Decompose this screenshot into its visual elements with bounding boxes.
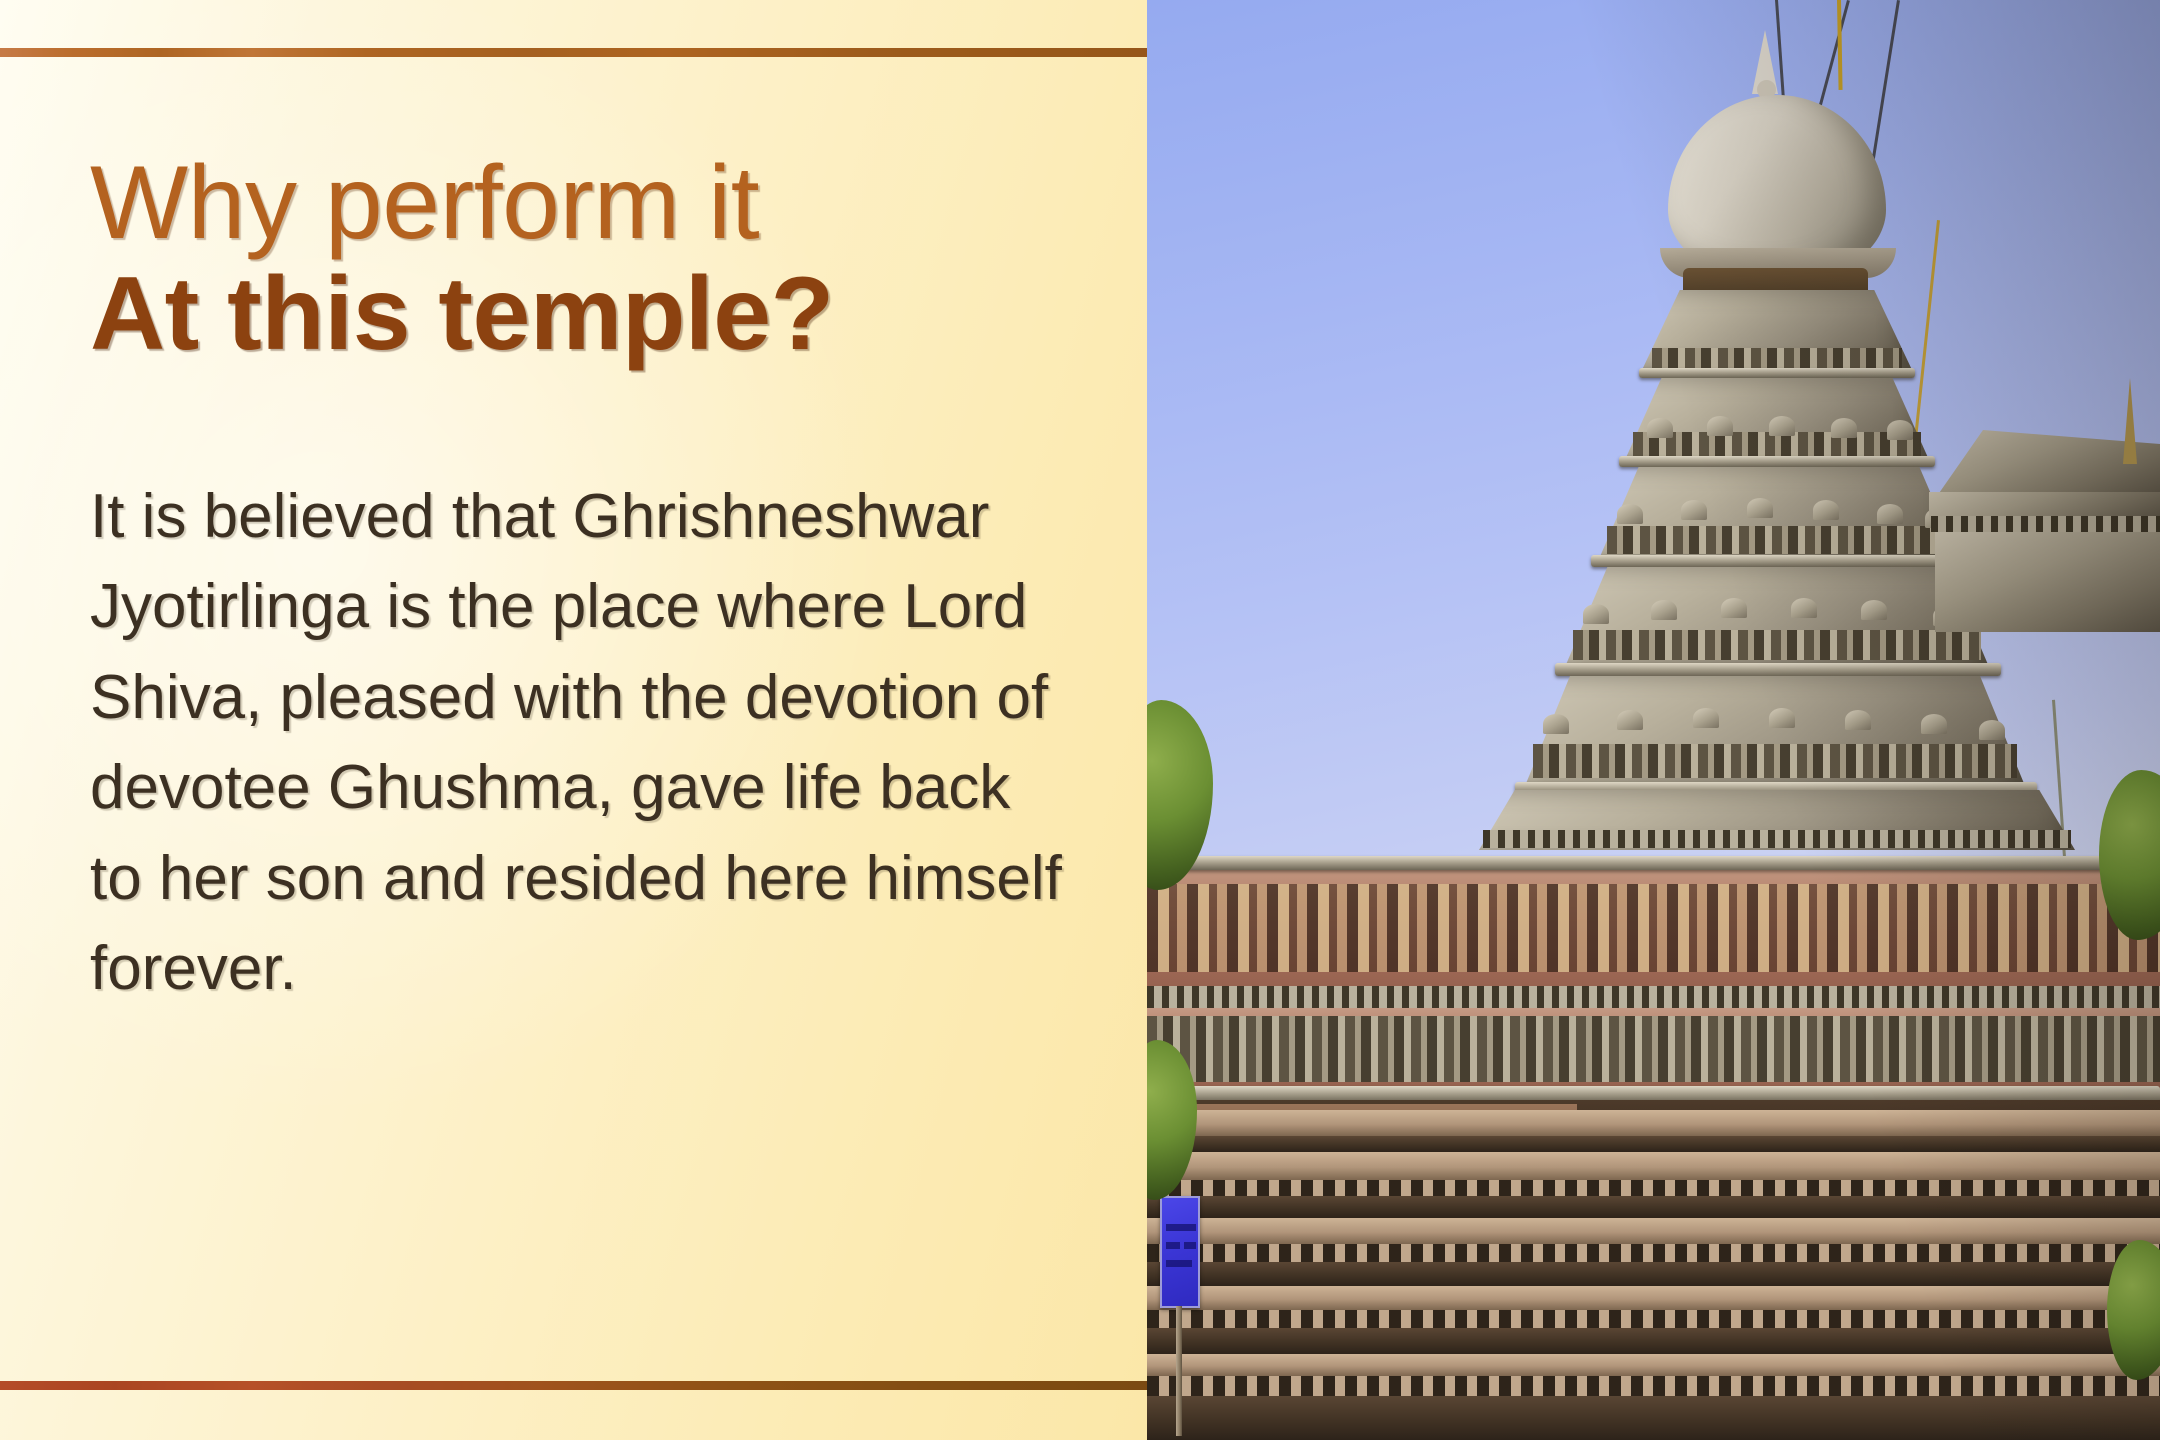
shikhara-ledge <box>1639 368 1915 378</box>
mini-dome <box>1617 710 1643 730</box>
plinth-course <box>1147 1286 2160 1310</box>
secondary-figure-row <box>1147 1016 2160 1082</box>
mini-dome <box>1707 416 1733 436</box>
mini-dome <box>1681 500 1707 520</box>
mini-dome <box>1887 420 1913 440</box>
plinth-tooth-course <box>1147 1244 2160 1262</box>
sign-glyph <box>1166 1242 1180 1249</box>
plinth-course <box>1147 1196 2160 1218</box>
heading-line-1: Why perform it <box>90 150 1100 257</box>
blue-signboard <box>1160 1196 1200 1308</box>
temple-photo <box>1147 0 2160 1440</box>
text-panel: Why perform it At this temple? It is bel… <box>0 0 1147 1440</box>
frieze-bottom-dentil <box>1147 986 2160 1008</box>
mini-dome <box>1747 498 1773 518</box>
dentil-course <box>1483 830 2071 848</box>
mini-dome <box>1543 714 1569 734</box>
plinth-course <box>1147 1396 2160 1440</box>
frieze-top-ledge <box>1147 856 2160 870</box>
plinth-course <box>1147 1152 2160 1180</box>
mini-dome <box>1877 504 1903 524</box>
mini-dome <box>1845 710 1871 730</box>
wing-cornice <box>1929 492 2160 518</box>
mini-dome <box>1921 714 1947 734</box>
plinth-course <box>1147 1218 2160 1244</box>
mini-dome <box>1617 504 1643 524</box>
signboard-pole <box>1176 1306 1182 1436</box>
plinth-course <box>1147 1354 2160 1376</box>
wing-body <box>1935 532 2160 632</box>
sign-glyph <box>1166 1224 1196 1231</box>
plinth-tooth-course <box>1147 1180 2160 1196</box>
mini-dome <box>1813 500 1839 520</box>
mini-dome <box>1979 720 2005 740</box>
mini-dome <box>1861 600 1887 620</box>
plinth-course <box>1147 1328 2160 1354</box>
plinth-tooth-course <box>1147 1310 2160 1328</box>
plinth-course <box>1147 1110 2160 1136</box>
plinth-tooth-course <box>1147 1376 2160 1396</box>
shikhara-ledge <box>1591 555 1967 567</box>
bottom-divider-rule <box>0 1381 1147 1390</box>
mini-dome <box>1647 418 1673 438</box>
mini-dome <box>1791 598 1817 618</box>
shikhara-ledge <box>1619 456 1935 467</box>
temple-photo-inner <box>1147 0 2160 1440</box>
page-title: Why perform it At this temple? <box>90 150 1100 372</box>
mini-dome <box>1721 598 1747 618</box>
shikhara-niche-row <box>1573 630 1981 660</box>
text-content: Why perform it At this temple? It is bel… <box>90 0 1100 1015</box>
heading-line-2: At this temple? <box>90 257 1100 371</box>
shikhara-niche-row <box>1533 744 2017 778</box>
plinth-course <box>1147 1136 2160 1152</box>
roof-finial-spike <box>2123 378 2137 464</box>
mini-dome <box>1583 604 1609 624</box>
mini-dome <box>1769 708 1795 728</box>
shikhara-niche-row <box>1652 348 1902 370</box>
plinth-course <box>1147 1262 2160 1286</box>
slide-root: Why perform it At this temple? It is bel… <box>0 0 2160 1440</box>
mini-dome <box>1651 600 1677 620</box>
sign-glyph <box>1166 1260 1192 1267</box>
mini-dome <box>1769 416 1795 436</box>
foliage <box>2107 1240 2160 1380</box>
sign-glyph <box>1184 1242 1196 1249</box>
mini-dome <box>1831 418 1857 438</box>
stepped-plinth <box>1147 1110 2160 1440</box>
mini-dome <box>1693 708 1719 728</box>
wing-dentil-course <box>1931 516 2160 532</box>
body-paragraph: It is believed that Ghrishneshwar Jyotir… <box>90 472 1070 1015</box>
shikhara-ledge <box>1555 663 2001 676</box>
carved-figure-frieze <box>1147 884 2160 972</box>
shikhara-niche-row <box>1607 526 1951 554</box>
